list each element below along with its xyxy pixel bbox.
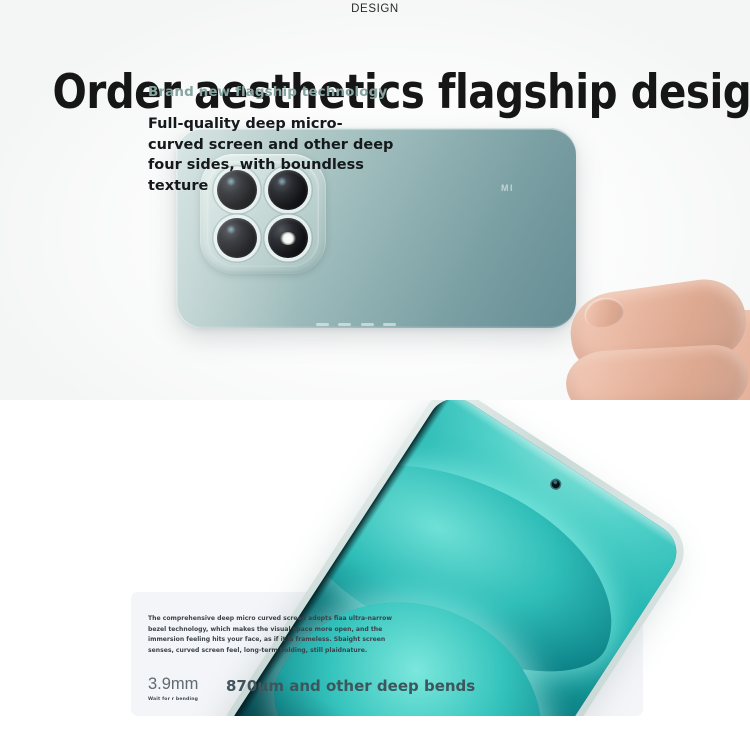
brand-logo-text: MI bbox=[501, 183, 514, 193]
metric-thickness: 3.9mm Wait for r bending bbox=[148, 676, 226, 702]
hero-section: DESIGN Order aesthetics flagship design … bbox=[0, 0, 750, 400]
info-card-paragraph: The comprehensive deep micro curved scre… bbox=[148, 614, 392, 656]
hand-illustration bbox=[546, 276, 750, 400]
front-camera-icon bbox=[548, 476, 563, 491]
section-eyebrow-label: DESIGN bbox=[0, 3, 750, 15]
feature-copy-block: Brand new flagship technology Full-quali… bbox=[148, 84, 448, 196]
page-bottom-spacer bbox=[0, 716, 750, 750]
speaker-grille-icon bbox=[316, 323, 396, 326]
metric-bend-headline: 870µm and other deep bends bbox=[226, 679, 475, 694]
metrics-row: 3.9mm Wait for r bending 870µm and other… bbox=[148, 676, 475, 702]
metric-thickness-value: 3.9mm bbox=[148, 676, 226, 693]
camera-flash-icon bbox=[268, 218, 308, 258]
camera-lens-icon bbox=[217, 218, 257, 258]
finger-middle bbox=[565, 343, 750, 400]
metric-thickness-caption: Wait for r bending bbox=[148, 697, 226, 702]
feature-kicker: Brand new flagship technology bbox=[148, 84, 448, 100]
product-page: DESIGN Order aesthetics flagship design … bbox=[0, 0, 750, 750]
page-right-spacer bbox=[643, 716, 750, 750]
screen-sheen bbox=[442, 400, 687, 552]
feature-subheading: Full-quality deep micro-curved screen an… bbox=[148, 114, 398, 196]
